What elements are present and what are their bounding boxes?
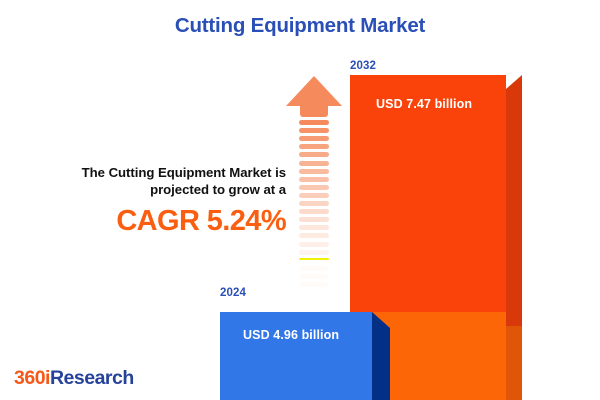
arrow-head-shape [286,76,342,106]
arrow-stripe [299,282,329,287]
arrow-stripe [299,250,329,255]
arrow-stripe [299,177,329,182]
bar-2032-year-label: 2032 [350,60,376,72]
arrow-stripe [299,201,329,206]
arrow-stripe [299,217,329,222]
arrow-stripe [299,209,329,214]
arrow-stripe [299,233,329,238]
up-arrow-striped-icon [286,76,342,290]
arrow-stripe [299,225,329,230]
bar-2024-year-label: 2024 [220,287,246,299]
arrow-stripe [299,136,329,141]
caption-line-1: The Cutting Equipment Market is [18,164,286,181]
arrow-stripe [299,128,329,133]
bar-2032-value-label: USD 7.47 billion [376,97,472,111]
brand-logo: 360iResearch [14,367,134,390]
brand-logo-mark: 360i [14,367,50,389]
arrow-stripe [299,169,329,174]
arrow-stripe [299,266,329,271]
arrow-neck-shape [300,104,328,117]
arrow-stripe [299,120,329,125]
arrow-stripe [299,274,329,279]
arrow-stripe [299,258,329,260]
cagr-value: CAGR 5.24% [18,205,286,237]
market-size-infographic: Cutting Equipment Market 2032 2024 USD 7… [0,0,600,400]
brand-logo-word: Research [50,367,134,389]
bar-2024-front-face [220,312,372,400]
arrow-stripe [299,152,329,157]
arrow-stripe-stack [299,120,329,290]
bar-2024-value-label: USD 4.96 billion [243,328,339,342]
arrow-stripe [299,144,329,149]
arrow-stripe [299,161,329,166]
cagr-callout: The Cutting Equipment Market is projecte… [18,164,286,237]
arrow-stripe [299,242,329,247]
caption-line-2: projected to grow at a [18,181,286,198]
arrow-stripe [299,185,329,190]
arrow-stripe [299,193,329,198]
bar-2032-overlap-side [506,326,522,400]
